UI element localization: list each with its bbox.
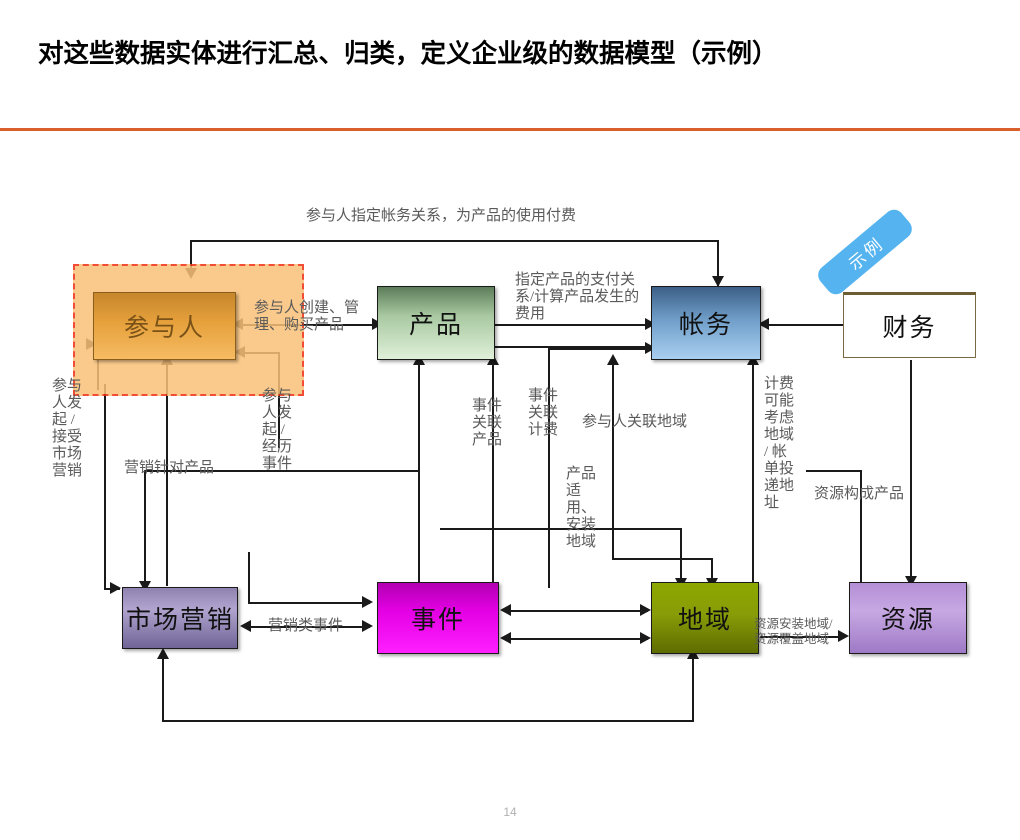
entity-box-marketing[interactable]: 市场营销 — [122, 587, 238, 649]
arrowhead-resource-left — [838, 630, 849, 642]
entity-box-finance[interactable]: 财务 — [843, 292, 976, 358]
entity-box-account[interactable]: 帐务 — [651, 286, 761, 360]
title-divider — [0, 128, 1020, 131]
connector-product-region-h — [612, 558, 711, 560]
connector-top-span — [190, 240, 719, 242]
entity-box-event[interactable]: 事件 — [377, 582, 499, 654]
connector-marketing-product-v — [418, 362, 420, 584]
entity-label-resource: 资源 — [881, 600, 935, 636]
relationship-label-r8: 事件关联产品 — [472, 398, 506, 449]
entity-label-region: 地域 — [678, 600, 732, 636]
entity-box-party[interactable]: 参与人 — [93, 292, 236, 360]
relationship-label-r3: 指定产品的支付关系/计算产品发生的费用 — [515, 272, 643, 323]
arrowhead-region-left-b — [640, 632, 651, 644]
arrowhead-marketing-bottom — [157, 648, 169, 659]
relationship-label-r2: 参与人创建、管理、购买产品 — [254, 300, 366, 334]
connector-party-region-h — [440, 528, 680, 530]
connector-event-product-v — [492, 362, 494, 584]
relationship-label-r14: 资源安装地域/资源覆盖地域 — [754, 617, 838, 647]
connector-party-marketing-v — [104, 384, 106, 590]
entity-box-region[interactable]: 地域 — [651, 582, 759, 654]
arrowhead-marketing-left — [110, 582, 121, 594]
connector-finance-resource-v — [910, 360, 912, 584]
arrowhead-event-right-a — [500, 604, 511, 616]
page-number: 14 — [0, 805, 1020, 819]
relationship-label-r6: 营销针对产品 — [124, 460, 214, 477]
connector-event-region-a — [508, 610, 648, 612]
example-badge-label: 示例 — [842, 230, 889, 275]
entity-label-finance: 财务 — [882, 308, 936, 344]
arrowhead-marketing-right — [240, 620, 251, 632]
arrowhead-event-right-b — [500, 632, 511, 644]
example-callout-badge: 示例 — [814, 206, 916, 299]
connector-bottom-span — [162, 720, 694, 722]
relationship-label-r13: 资源构成产品 — [814, 486, 904, 503]
entity-box-resource[interactable]: 资源 — [849, 582, 967, 654]
diagram-area: 参与人 产品 帐务 财务 市场营销 事件 地域 资源 示例 参与人指定帐务关系，… — [0, 140, 1020, 800]
arrowhead-product-bottom-d — [607, 354, 619, 365]
connector-bottom-marketing-v — [162, 656, 164, 722]
relationship-label-r11: 产品适用、安装地域 — [566, 466, 604, 551]
relationship-label-r9: 事件关联计费 — [528, 388, 562, 439]
connector-marketing-event-h2 — [248, 602, 370, 604]
arrowhead-region-left-a — [640, 604, 651, 616]
connector-product-region-v — [612, 362, 614, 560]
relationship-label-r4: 参与人发起 / 接受市场营销 — [52, 378, 88, 480]
relationship-label-r12: 计费可能考虑地域 / 帐单投递地址 — [764, 376, 800, 512]
entity-box-product[interactable]: 产品 — [377, 286, 495, 360]
connector-marketing-down — [144, 470, 146, 585]
entity-label-event: 事件 — [411, 600, 465, 636]
entity-label-party: 参与人 — [124, 308, 205, 344]
connector-bottom-region-v — [692, 656, 694, 722]
entity-label-product: 产品 — [409, 305, 463, 341]
relationship-label-r5: 参与人发起 / 经历事件 — [262, 388, 296, 473]
connector-event-region-b — [508, 638, 648, 640]
connector-event-account-v — [548, 348, 550, 588]
connector-resource-product-h — [806, 470, 862, 472]
entity-label-account: 帐务 — [679, 305, 733, 341]
arrowhead-event-left — [362, 620, 373, 632]
page-title: 对这些数据实体进行汇总、归类，定义企业级的数据模型（示例） — [38, 33, 968, 70]
connector-marketing-event-v — [248, 552, 250, 604]
relationship-label-r7: 营销类事件 — [268, 618, 343, 635]
arrowhead-event-left-b — [362, 596, 373, 608]
relationship-label-r10: 参与人关联地域 — [582, 414, 687, 431]
entity-label-marketing: 市场营销 — [126, 600, 234, 636]
connector-account-region-v — [752, 362, 754, 584]
relationship-label-r1: 参与人指定帐务关系，为产品的使用付费 — [306, 208, 576, 225]
connector-finance-account — [766, 324, 844, 326]
slide-canvas: 对这些数据实体进行汇总、归类，定义企业级的数据模型（示例） — [0, 0, 1020, 840]
connector-party-region-v — [680, 528, 682, 584]
connector-event-account-h — [548, 348, 655, 350]
